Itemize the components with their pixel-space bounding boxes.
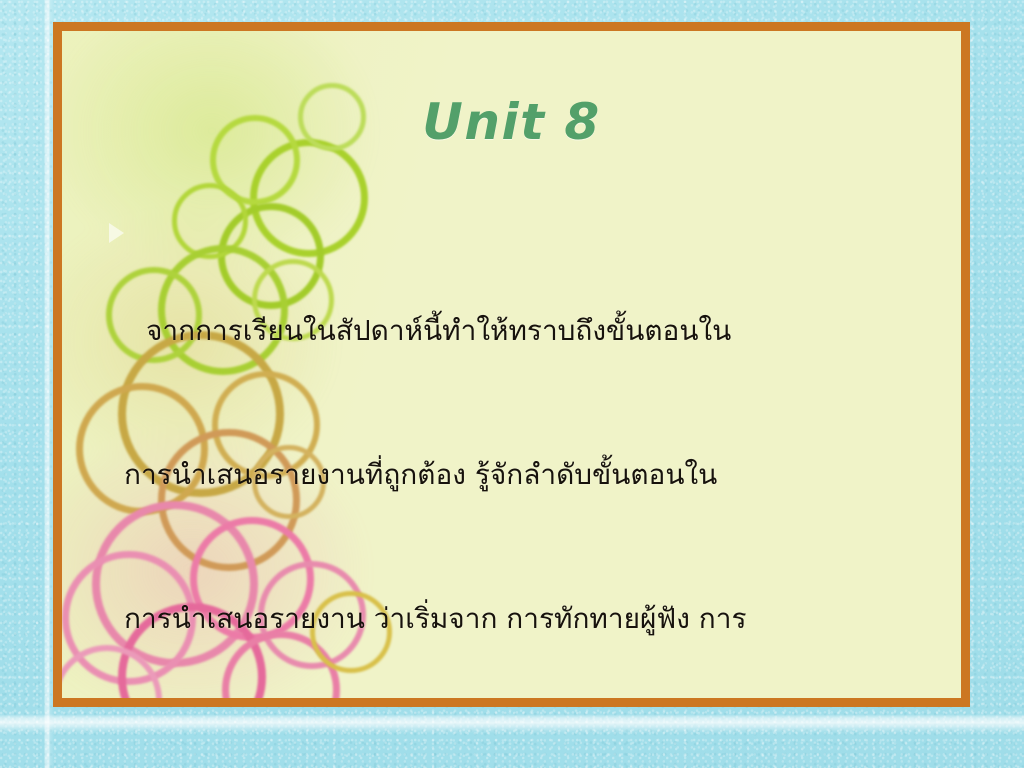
- body-line: การนำเสนอรายงาน ว่าเริ่มจาก การทักทายผู้…: [124, 595, 924, 643]
- slide-canvas: Unit 8 จากการเรียนในสัปดาห์นี้ทำให้ทราบถ…: [0, 0, 1024, 768]
- slide-body-text: จากการเรียนในสัปดาห์นี้ทำให้ทราบถึงขั้นต…: [124, 211, 924, 707]
- slide-title: Unit 8: [62, 93, 961, 151]
- body-line: การนำเสนอรายงานที่ถูกต้อง รู้จักลำดับขั้…: [124, 451, 924, 499]
- body-line: จากการเรียนในสัปดาห์นี้ทำให้ทราบถึงขั้นต…: [124, 307, 924, 355]
- slide-frame: Unit 8 จากการเรียนในสัปดาห์นี้ทำให้ทราบถ…: [53, 22, 970, 707]
- bullet-triangle-icon: [109, 223, 124, 243]
